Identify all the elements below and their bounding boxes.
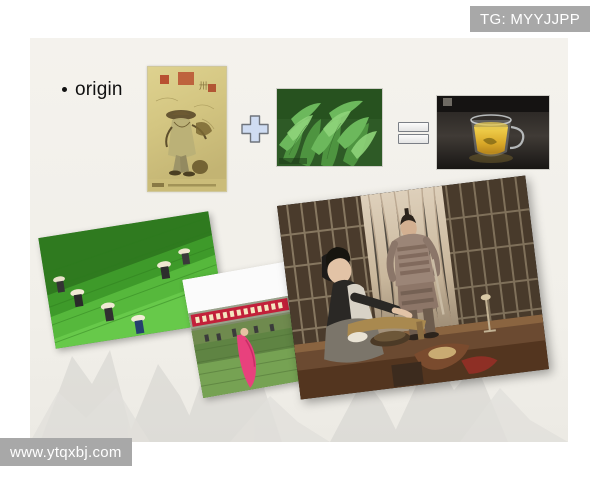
presentation-slide: origin 卅 bbox=[30, 38, 568, 442]
bullet-row: origin bbox=[62, 80, 123, 99]
bottom-watermark-text: www.ytqxbj.com bbox=[10, 444, 122, 461]
top-watermark-text: TG: MYYJJPP bbox=[480, 11, 580, 28]
svg-text:卅: 卅 bbox=[199, 81, 208, 91]
equals-icon bbox=[398, 122, 429, 144]
bullet-dot-icon bbox=[62, 87, 67, 92]
brewed-tea-cup-photo bbox=[436, 95, 550, 170]
plus-icon bbox=[241, 115, 269, 143]
tea-leaves-photo bbox=[276, 88, 383, 167]
bullet-label: origin bbox=[75, 80, 123, 99]
ancient-chinese-painting: 卅 bbox=[147, 66, 227, 192]
top-watermark-badge: TG: MYYJJPP bbox=[470, 6, 590, 32]
screenshot-root: origin 卅 bbox=[0, 0, 600, 480]
bottom-watermark-badge: www.ytqxbj.com bbox=[0, 438, 132, 466]
tea-ceremony-drama-photo bbox=[277, 175, 549, 399]
equals-bar-bottom bbox=[398, 134, 429, 144]
equals-bar-top bbox=[398, 122, 429, 132]
